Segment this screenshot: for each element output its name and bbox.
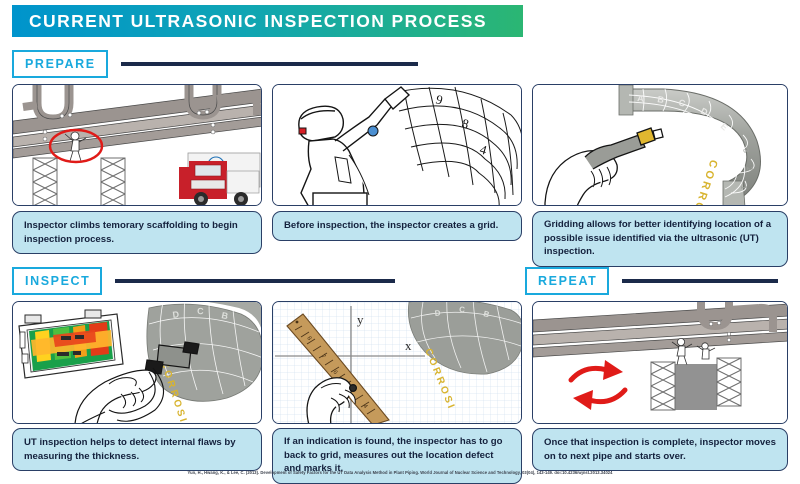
axis-label-y: y <box>357 312 364 327</box>
panel-next-pipe <box>532 301 788 424</box>
caption-panel-measure-grid: If an indication is found, the inspector… <box>272 428 522 484</box>
caption-panel-scaffolding: Inspector climbs temorary scaffolding to… <box>12 211 262 254</box>
caption-panel-next-pipe: Once that inspection is complete, inspec… <box>532 428 788 471</box>
section-label-repeat: REPEAT <box>525 267 609 295</box>
page-title-bar: CURRENT ULTRASONIC INSPECTION PROCESS <box>12 5 523 37</box>
section-rule-inspect <box>115 279 395 283</box>
section-label-prepare: PREPARE <box>12 50 108 78</box>
section-header-inspect: INSPECT <box>12 267 395 295</box>
svg-text:D: D <box>434 308 441 318</box>
svg-text:C: C <box>197 306 204 316</box>
svg-text:C: C <box>459 305 466 314</box>
panel-gridded-elbow: A B C D E C O R R O S I O N 3 2 1 <box>532 84 788 206</box>
panel-scaffolding: GE <box>12 84 262 206</box>
section-header-prepare: PREPARE <box>12 50 418 78</box>
caption-panel-gridded-elbow: Gridding allows for better identifying l… <box>532 211 788 267</box>
caption-panel-ut-scan: UT inspection helps to detect internal f… <box>12 428 262 471</box>
source-citation: Yun, H., Hwang, K., & Lee, C. (2013). De… <box>0 470 800 475</box>
panel-ut-scan: D C B C O R R O S I <box>12 301 262 424</box>
equipment-block <box>675 364 717 410</box>
section-rule-repeat <box>622 279 778 283</box>
caption-panel-gridding-drawing: Before inspection, the inspector creates… <box>272 211 522 241</box>
axis-label-x: x <box>405 338 412 353</box>
section-header-repeat: REPEAT <box>525 267 778 295</box>
section-rule-prepare <box>121 62 418 66</box>
svg-text:1: 1 <box>739 185 748 190</box>
panel-measure-grid: y x D C B C O R R O S I <box>272 301 522 424</box>
section-label-inspect: INSPECT <box>12 267 102 295</box>
panel-gridding-drawing: 9 8 4 <box>272 84 522 206</box>
truck: GE <box>179 153 260 206</box>
page-title: CURRENT ULTRASONIC INSPECTION PROCESS <box>12 11 487 32</box>
